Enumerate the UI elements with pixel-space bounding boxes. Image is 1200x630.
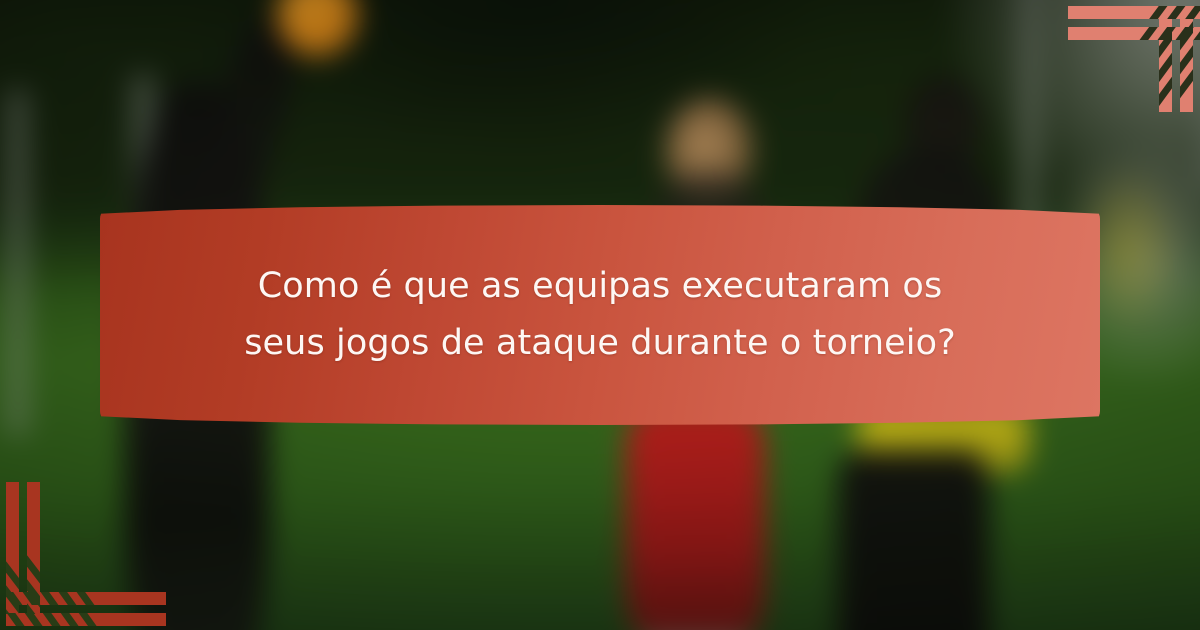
question-text: Como é que as equipas executaram os seus… <box>220 258 980 371</box>
social-card-canvas: Como é que as equipas executaram os seus… <box>0 0 1200 630</box>
question-card: Como é que as equipas executaram os seus… <box>100 205 1100 425</box>
